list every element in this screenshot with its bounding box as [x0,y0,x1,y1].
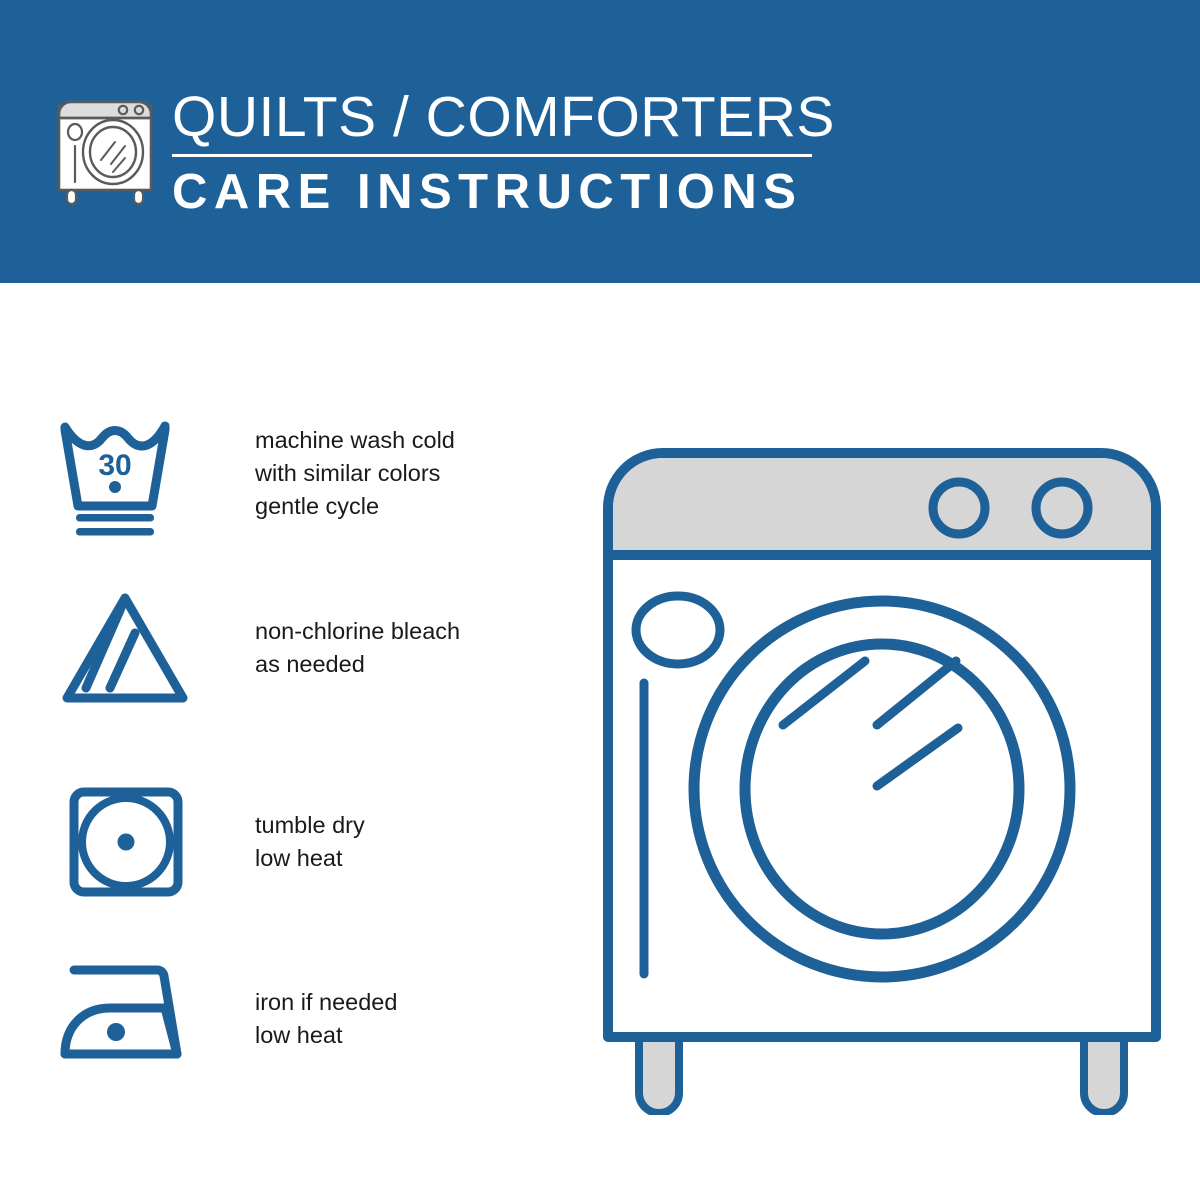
tumble-dry-low-heat-icon [60,782,190,907]
wash-tub-30-gentle-icon: 30 [60,418,190,543]
care-line: tumble dry [255,809,365,842]
care-row-bleach: non-chlorine bleach as needed [0,590,540,715]
washing-machine-logo-icon [55,84,159,208]
header-band: QUILTS / COMFORTERS CARE INSTRUCTIONS [0,0,1200,283]
washing-machine-illustration [600,403,1164,1115]
washer-knob-right [1036,482,1088,534]
care-text-wash: machine wash cold with similar colors ge… [255,418,455,523]
care-instructions-page: QUILTS / COMFORTERS CARE INSTRUCTIONS 30… [0,0,1200,1200]
care-line: iron if needed [255,986,397,1019]
care-row-tumble-dry: tumble dry low heat [0,782,540,907]
care-line: gentle cycle [255,490,455,523]
care-line: low heat [255,1019,397,1052]
wash-temperature-label: 30 [98,449,131,482]
title-divider [172,154,812,157]
care-line: non-chlorine bleach [255,615,460,648]
care-row-iron: iron if needed low heat [0,958,540,1073]
washer-legs [639,1033,1124,1113]
care-row-wash: 30 machine wash cold with similar colors… [0,418,540,543]
care-line: low heat [255,842,365,875]
iron-low-heat-icon [60,958,190,1073]
care-line: machine wash cold [255,424,455,457]
page-title: QUILTS / COMFORTERS [172,86,822,148]
care-line: with similar colors [255,457,455,490]
care-line: as needed [255,648,460,681]
care-text-tumble-dry: tumble dry low heat [255,782,365,875]
care-text-iron: iron if needed low heat [255,958,397,1052]
washer-knob-left [933,482,985,534]
header-title-block: QUILTS / COMFORTERS CARE INSTRUCTIONS [172,86,822,219]
page-subtitle: CARE INSTRUCTIONS [172,165,822,219]
care-text-bleach: non-chlorine bleach as needed [255,590,460,681]
non-chlorine-bleach-triangle-icon [60,590,190,715]
